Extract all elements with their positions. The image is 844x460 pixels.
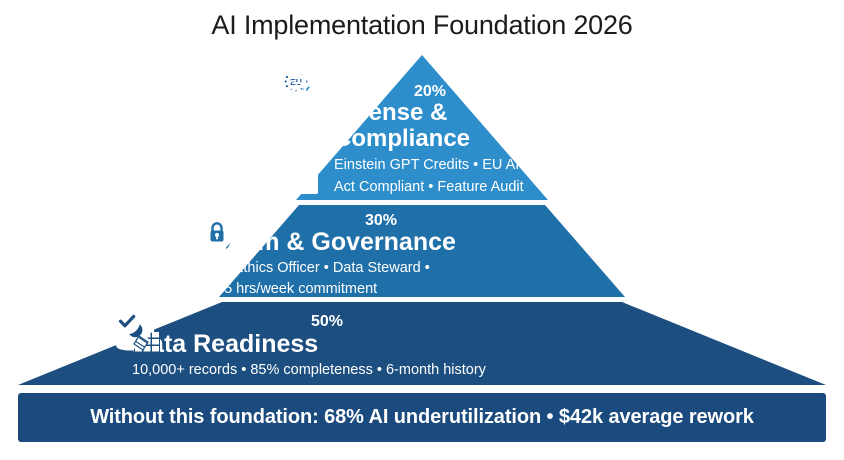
check-circle-icon — [112, 306, 142, 336]
eu-flag-badge-icon: EU — [278, 166, 318, 194]
shield-lock-icon — [200, 212, 234, 254]
page-title: AI Implementation Foundation 2026 — [0, 10, 844, 41]
tier-top-heading-line1: License & — [334, 100, 526, 126]
tier-bot-heading: Data Readiness — [132, 331, 522, 358]
clipboard-checklist-icon — [278, 68, 308, 104]
tier-top-subtitle-line2: Act Compliant • Feature Audit — [334, 178, 526, 196]
tier-bot-percent: 50% — [132, 313, 522, 331]
tier-top-percent: 20% — [334, 83, 526, 101]
tier-bot-subtitle-line1: 10,000+ records • 85% completeness • 6-m… — [132, 361, 522, 379]
pyramid-tier-data-readiness[interactable]: 50% Data Readiness 10,000+ records • 85%… — [112, 306, 752, 386]
tier-mid-heading: Team & Governance — [216, 229, 546, 256]
warning-banner-text: Without this foundation: 68% AI underuti… — [90, 406, 754, 429]
tier-top-text-group: 20% License & Compliance Einstein GPT Cr… — [326, 83, 526, 198]
pyramid-tier-team-governance[interactable]: 30% Team & Governance AI Ethics Officer … — [200, 212, 670, 298]
tier-mid-subtitle-line2: 35 hrs/week commitment — [216, 280, 546, 298]
pyramid-tier-license-compliance[interactable]: EU 20% License & Compliance — [278, 68, 578, 198]
tier-top-subtitle-line1: Einstein GPT Credits • EU AI — [334, 156, 526, 174]
tier-mid-text-group: 30% Team & Governance AI Ethics Officer … — [216, 212, 546, 299]
tier-mid-percent: 30% — [216, 212, 546, 230]
tier-top-heading-line2: Compliance — [334, 126, 526, 152]
warning-banner: Without this foundation: 68% AI underuti… — [18, 393, 826, 442]
tier-bot-text-group: 50% Data Readiness 10,000+ records • 85%… — [132, 313, 522, 378]
tier-mid-subtitle-line1: AI Ethics Officer • Data Steward • — [216, 259, 546, 277]
pyramid-diagram: EU 20% License & Compliance — [0, 52, 844, 385]
tier-top-icon-group: EU — [278, 160, 318, 198]
